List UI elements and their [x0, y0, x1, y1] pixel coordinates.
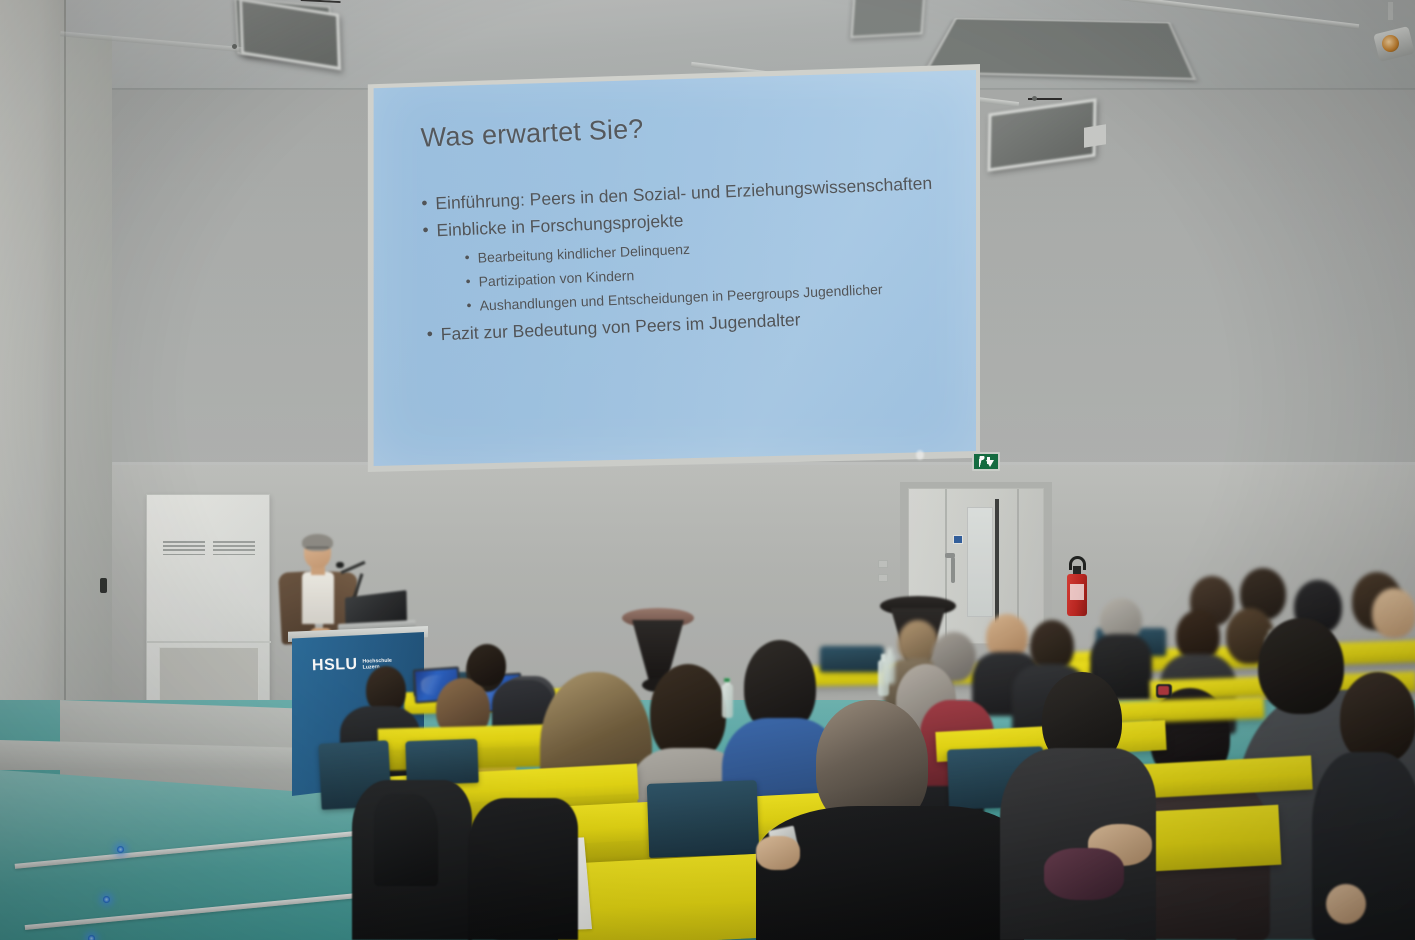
chair-back — [405, 739, 478, 785]
wall-socket-plate — [878, 574, 888, 582]
step-led-light — [88, 935, 95, 940]
water-bottle — [722, 684, 733, 718]
backpack — [374, 794, 438, 886]
water-bottle — [878, 660, 889, 696]
audience-head — [1372, 588, 1415, 638]
door-glass-panel — [967, 507, 993, 617]
emergency-exit-sign-icon — [972, 452, 1000, 471]
audience-hand — [756, 836, 800, 870]
slide-sub-bullet: Partizipation von Kindern — [478, 267, 634, 289]
slide-bullet: Fazit zur Bedeutung von Peers im Jugenda… — [440, 309, 800, 345]
door-gap — [995, 499, 999, 623]
door-handle[interactable] — [951, 557, 955, 583]
utility-cabinet-handle[interactable] — [100, 578, 107, 593]
step-led-light — [103, 896, 110, 903]
step-led-light — [117, 846, 124, 853]
slide: Was erwartet Sie? Einführung: Peers in d… — [362, 45, 984, 466]
audience-hand — [1326, 884, 1366, 924]
door-info-sign-icon — [953, 535, 963, 544]
smartwatch-face — [1158, 686, 1169, 695]
slide-sub-bullet: Bearbeitung kindlicher Delinquenz — [477, 241, 690, 266]
slide-title: Was erwartet Sie? — [420, 114, 644, 154]
ceiling-fixture-dot — [1032, 96, 1037, 101]
audience-head — [1340, 672, 1415, 764]
lecture-hall-photo: Was erwartet Sie? Einführung: Peers in d… — [0, 0, 1415, 940]
audience-body — [756, 806, 1024, 940]
audience-head — [1258, 618, 1344, 714]
chair-back — [820, 646, 884, 672]
spotlight-stem — [1388, 2, 1393, 20]
slide-bullet: Einblicke in Forschungsprojekte — [436, 210, 684, 241]
spotlight-icon — [1372, 22, 1414, 62]
ceiling-panel — [851, 0, 926, 38]
vent-slots-icon — [163, 541, 205, 557]
projection-screen: Was erwartet Sie? Einführung: Peers in d… — [370, 70, 976, 466]
audience-head — [468, 644, 506, 686]
wall-socket-plate — [878, 560, 888, 568]
vent-slots-icon — [213, 541, 255, 557]
hslu-wordmark: HSLU — [312, 656, 358, 675]
bottle-cap — [724, 678, 730, 682]
microphone-head — [336, 562, 344, 568]
audience-sleeve — [1044, 848, 1124, 900]
audience-body — [468, 798, 578, 940]
slide-bullet: Einführung: Peers in den Sozial- und Erz… — [435, 173, 933, 214]
speaker-mount — [1084, 124, 1106, 147]
fire-extinguisher-icon — [1066, 556, 1088, 618]
screen-specular-highlight — [916, 450, 924, 460]
ceiling-fixture-dot — [232, 44, 237, 49]
chair-back — [647, 780, 760, 858]
